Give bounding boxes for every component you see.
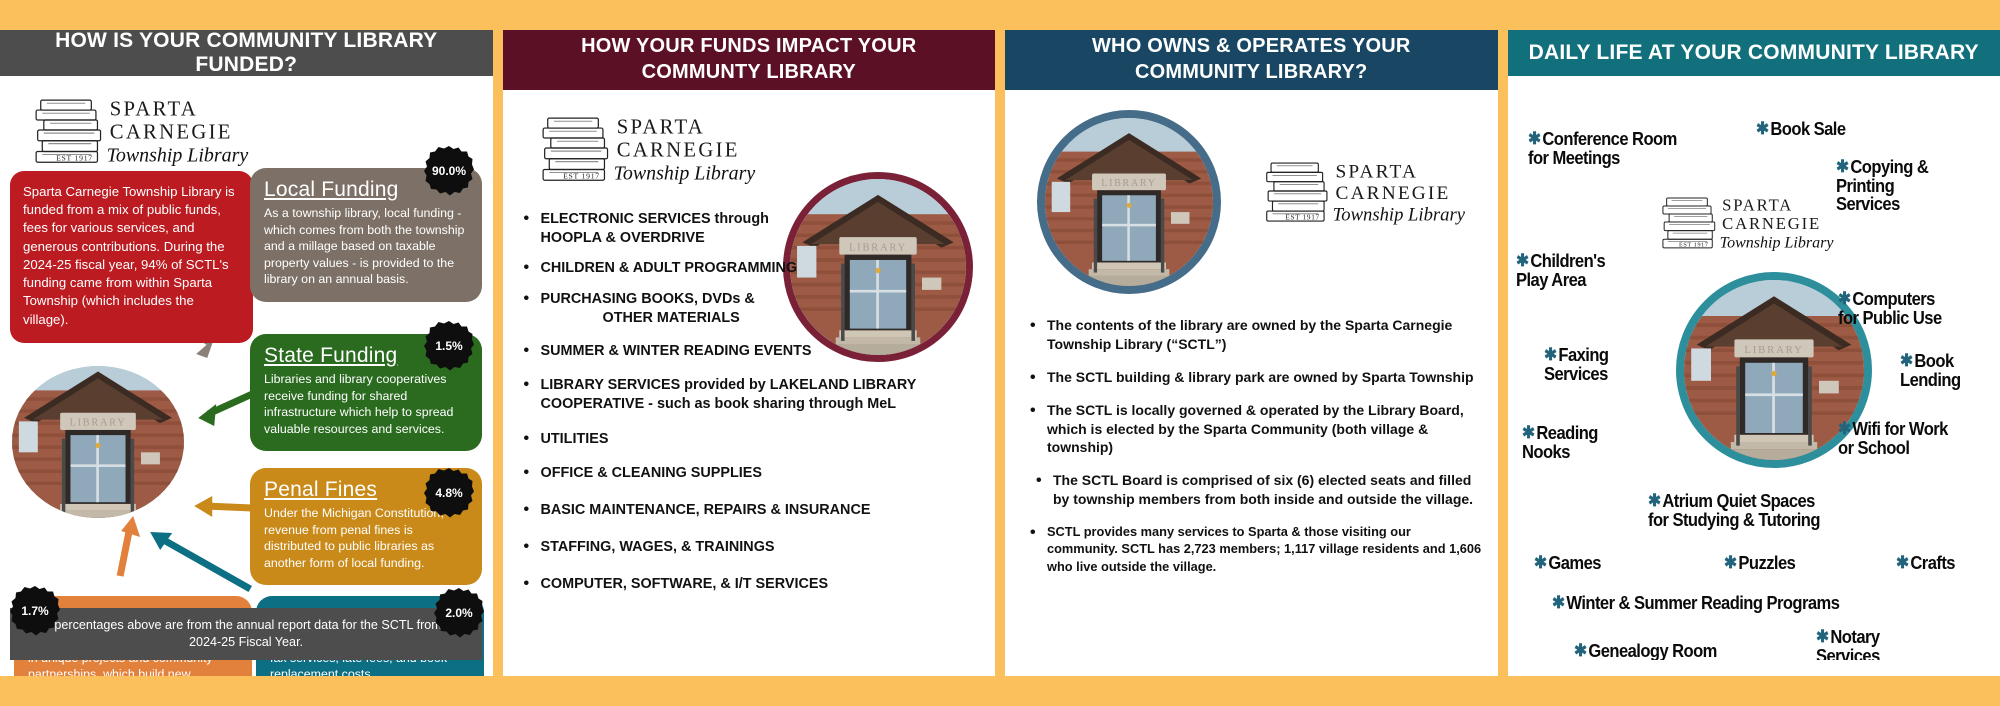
library-building-photo-icon [1684, 280, 1864, 460]
panel-ownership-body: The contents of the library are owned by… [1005, 90, 1498, 660]
service-conference-room: ✱Conference Room for Meetings [1528, 112, 1677, 167]
list-item: The SCTL is locally governed & operated … [1023, 401, 1483, 458]
star-icon: ✱ [1552, 594, 1565, 611]
service-genealogy-room: ✱Genealogy Room [1574, 624, 1717, 660]
star-icon: ✱ [1756, 120, 1769, 137]
list-item: CHILDREN & ADULT PROGRAMMING [519, 259, 819, 278]
service-label: Wifi for Work or School [1838, 419, 1948, 457]
impact-list: ELECTRONIC SERVICES through HOOPLA & OVE… [519, 210, 989, 605]
star-icon: ✱ [1544, 346, 1557, 363]
panel-daily-life-title: DAILY LIFE AT YOUR COMMUNITY LIBRARY [1508, 30, 2000, 76]
service-crafts: ✱Crafts [1896, 536, 1955, 573]
panel-funding-title: HOW IS YOUR COMMUNITY LIBRARY FUNDED? [0, 30, 493, 76]
infographic-board: HOW IS YOUR COMMUNITY LIBRARY FUNDED? Sp… [0, 0, 2000, 706]
impact-item-0: ELECTRONIC SERVICES through HOOPLA & OVE… [541, 211, 769, 246]
impact-item-3: OTHER MATERIALS [541, 309, 989, 328]
service-label: Crafts [1910, 553, 1955, 573]
ownership-item-2: The SCTL is locally governed & operated … [1047, 402, 1464, 456]
service-games: ✱Games [1534, 536, 1601, 573]
service-childrens-play-area: ✱Children's Play Area [1516, 234, 1605, 289]
service-book-lending: ✱Book Lending [1900, 334, 1961, 389]
library-logo [30, 86, 260, 174]
ownership-item-4: SCTL provides many services to Sparta & … [1047, 524, 1481, 574]
list-item: The contents of the library are owned by… [1023, 316, 1483, 354]
star-icon: ✱ [1522, 424, 1535, 441]
star-icon: ✱ [1648, 492, 1661, 509]
star-icon: ✱ [1896, 554, 1909, 571]
service-label: Atrium Quiet Spaces for Studying & Tutor… [1648, 491, 1820, 529]
library-logo [537, 104, 767, 192]
service-copying-printing: ✱Copying & Printing Services [1836, 140, 1928, 213]
list-item: COMPUTER, SOFTWARE, & I/T SERVICES [519, 575, 989, 594]
panel-ownership: WHO OWNS & OPERATES YOUR COMMUNITY LIBRA… [1005, 30, 1498, 676]
funding-card-local-body: As a township library, local funding - w… [264, 205, 468, 288]
impact-item-8: BASIC MAINTENANCE, REPAIRS & INSURANCE [541, 502, 871, 518]
star-icon: ✱ [1574, 642, 1587, 659]
funding-intro-text: Sparta Carnegie Township Library is fund… [10, 171, 253, 343]
panel-funding: HOW IS YOUR COMMUNITY LIBRARY FUNDED? Sp… [0, 30, 493, 676]
service-label: Book Sale [1770, 119, 1845, 139]
funding-footnote: The percentages above are from the annua… [10, 608, 482, 660]
ownership-item-3: The SCTL Board is comprised of six (6) e… [1053, 472, 1473, 507]
service-label: Conference Room for Meetings [1528, 129, 1677, 167]
star-icon: ✱ [1534, 554, 1547, 571]
list-item: SCTL provides many services to Sparta & … [1023, 523, 1483, 575]
sparta-carnegie-logo-icon [1658, 186, 1843, 258]
list-item: OFFICE & CLEANING SUPPLIES [519, 464, 989, 483]
list-item: The SCTL Board is comprised of six (6) e… [1023, 471, 1483, 509]
service-reading-programs: ✱Winter & Summer Reading Programs [1552, 576, 1839, 613]
library-photo [1037, 110, 1221, 294]
ownership-item-1: The SCTL building & library park are own… [1047, 369, 1474, 385]
panel-ownership-title: WHO OWNS & OPERATES YOUR COMMUNITY LIBRA… [1005, 30, 1498, 90]
impact-item-4: SUMMER & WINTER READING EVENTS [541, 343, 812, 359]
list-item: ELECTRONIC SERVICES through HOOPLA & OVE… [519, 210, 819, 247]
star-icon: ✱ [1528, 130, 1541, 147]
service-atrium-quiet-spaces: ✱Atrium Quiet Spaces for Studying & Tuto… [1648, 474, 1820, 529]
library-building-photo-icon [1045, 118, 1213, 286]
service-notary: ✱Notary Services [1816, 610, 1880, 660]
funding-card-penal-body: Under the Michigan Constitution, revenue… [264, 505, 468, 571]
impact-item-10: COMPUTER, SOFTWARE, & I/T SERVICES [541, 576, 829, 592]
star-icon: ✱ [1836, 158, 1849, 175]
star-icon: ✱ [1816, 628, 1829, 645]
ownership-item-0: The contents of the library are owned by… [1047, 317, 1452, 352]
service-wifi: ✱Wifi for Work or School [1838, 402, 1948, 457]
impact-item-9: STAFFING, WAGES, & TRAININGS [541, 539, 775, 555]
library-logo [1658, 186, 1843, 258]
impact-item-5: LIBRARY SERVICES provided by LAKELAND LI… [541, 377, 917, 412]
service-label: Puzzles [1738, 553, 1795, 573]
panel-funding-body: Sparta Carnegie Township Library is fund… [0, 76, 493, 660]
list-item: STAFFING, WAGES, & TRAININGS [519, 538, 989, 557]
library-logo [1261, 150, 1476, 232]
panel-impact-title: HOW YOUR FUNDS IMPACT YOUR COMMUNTY LIBR… [503, 30, 996, 90]
service-label: Copying & Printing Services [1836, 157, 1928, 214]
service-puzzles: ✱Puzzles [1724, 536, 1795, 573]
sparta-carnegie-logo-icon [537, 104, 767, 192]
impact-item-2: PURCHASING BOOKS, DVDs & [541, 291, 755, 307]
star-icon: ✱ [1900, 352, 1913, 369]
service-label: Genealogy Room [1588, 641, 1716, 660]
star-icon: ✱ [1516, 252, 1529, 269]
list-item: UTILITIES [519, 430, 989, 449]
list-item: PURCHASING BOOKS, DVDs & OTHER MATERIALS [519, 290, 989, 327]
list-item: BASIC MAINTENANCE, REPAIRS & INSURANCE [519, 501, 989, 520]
funding-card-state-body: Libraries and library cooperatives recei… [264, 371, 468, 437]
library-building-photo-icon [12, 366, 184, 518]
list-item: LIBRARY SERVICES provided by LAKELAND LI… [519, 376, 989, 413]
panel-impact: HOW YOUR FUNDS IMPACT YOUR COMMUNTY LIBR… [503, 30, 996, 676]
ownership-list: The contents of the library are owned by… [1023, 316, 1483, 589]
sparta-carnegie-logo-icon [1261, 150, 1476, 232]
service-computers-public-use: ✱Computers for Public Use [1838, 272, 1942, 327]
panel-daily-life-body: ✱Conference Room for Meetings ✱Book Sale… [1508, 76, 2000, 660]
impact-item-6: UTILITIES [541, 431, 609, 447]
service-reading-nooks: ✱Reading Nooks [1522, 406, 1598, 461]
sparta-carnegie-logo-icon [30, 86, 260, 174]
panel-daily-life: DAILY LIFE AT YOUR COMMUNITY LIBRARY ✱Co… [1508, 30, 2000, 676]
impact-item-1: CHILDREN & ADULT PROGRAMMING [541, 260, 798, 276]
star-icon: ✱ [1724, 554, 1737, 571]
list-item: SUMMER & WINTER READING EVENTS [519, 342, 989, 361]
panel-impact-body: ELECTRONIC SERVICES through HOOPLA & OVE… [503, 90, 996, 660]
service-label: Games [1548, 553, 1600, 573]
service-label: Computers for Public Use [1838, 289, 1942, 327]
service-label: Winter & Summer Reading Programs [1566, 593, 1839, 613]
list-item: The SCTL building & library park are own… [1023, 368, 1483, 387]
impact-item-7: OFFICE & CLEANING SUPPLIES [541, 465, 762, 481]
library-photo [12, 366, 184, 518]
service-faxing: ✱Faxing Services [1544, 328, 1608, 383]
service-book-sale: ✱Book Sale [1756, 102, 1846, 139]
star-icon: ✱ [1838, 290, 1851, 307]
star-icon: ✱ [1838, 420, 1851, 437]
